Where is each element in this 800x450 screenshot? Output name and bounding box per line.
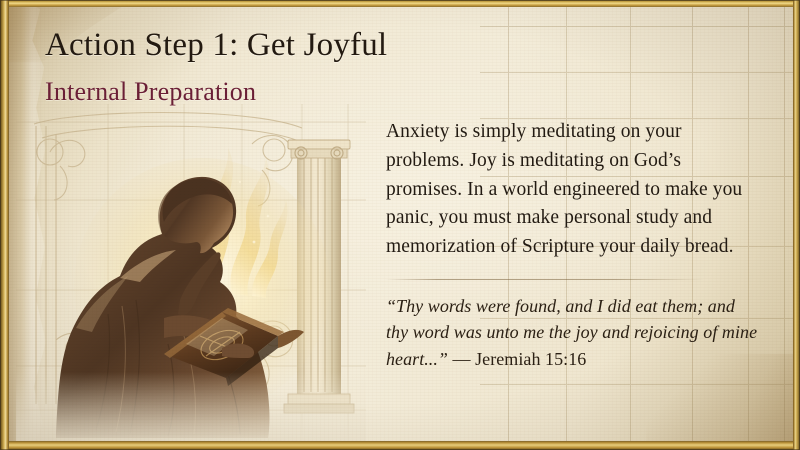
scripture-attribution: — Jeremiah 15:16 [453,349,587,369]
scripture-quote: “Thy words were found, and I did eat the… [386,293,758,373]
slide-canvas: Action Step 1: Get Joyful Internal Prepa… [0,0,800,450]
text-column: Anxiety is simply meditating on your pro… [386,118,758,372]
illustration-reading-figure [16,104,366,444]
section-divider [386,279,704,280]
body-paragraph: Anxiety is simply meditating on your pro… [386,118,758,262]
page-title: Action Step 1: Get Joyful [45,26,387,64]
page-subtitle: Internal Preparation [45,76,256,108]
